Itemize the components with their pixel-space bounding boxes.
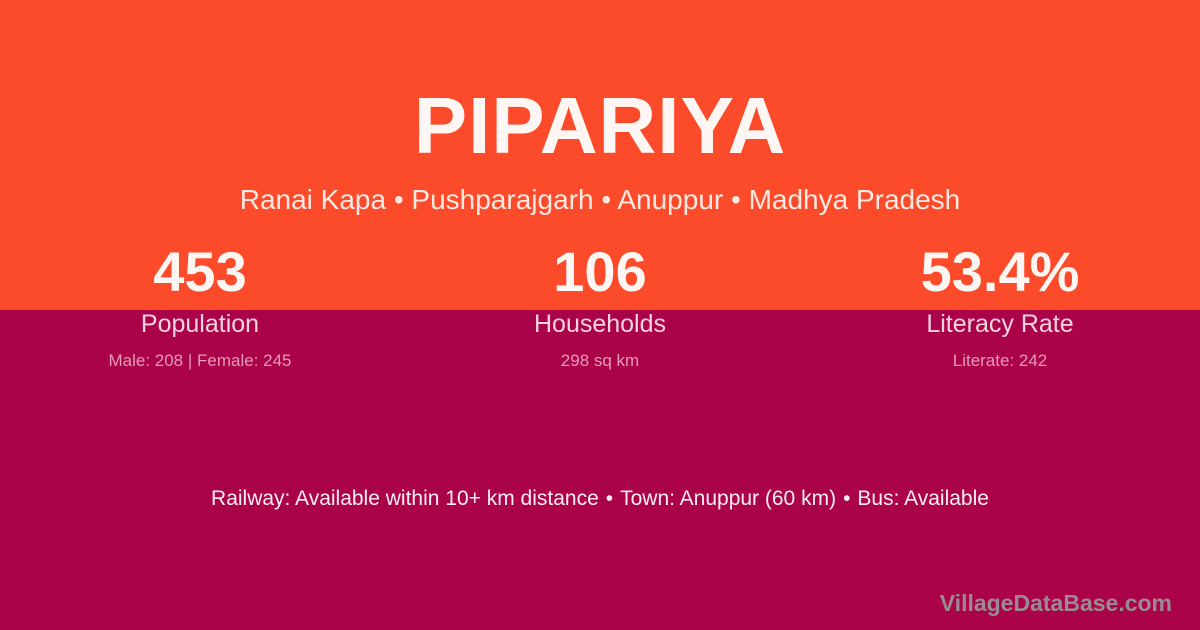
village-info-card: PIPARIYA Ranai Kapa • Pushparajgarh • An…: [0, 0, 1200, 630]
stat-literacy-detail: Literate: 242: [800, 350, 1200, 372]
stat-households-label: Households: [400, 308, 800, 340]
stat-households-value: 106: [400, 240, 800, 304]
stats-row: 453 Population Male: 208 | Female: 245 1…: [0, 240, 1200, 372]
stat-literacy-label: Literacy Rate: [800, 308, 1200, 340]
amenity-railway: Railway: Available within 10+ km distanc…: [211, 487, 599, 510]
stat-population-value: 453: [0, 240, 400, 304]
amenity-separator-first: •: [599, 487, 620, 510]
breadcrumb: Ranai Kapa • Pushparajgarh • Anuppur • M…: [0, 182, 1200, 218]
stat-population: 453 Population Male: 208 | Female: 245: [0, 240, 400, 372]
stat-households-detail: 298 sq km: [400, 350, 800, 372]
amenity-town: Town: Anuppur (60 km): [620, 487, 836, 510]
stat-households: 106 Households 298 sq km: [400, 240, 800, 372]
stat-literacy: 53.4% Literacy Rate Literate: 242: [800, 240, 1200, 372]
site-watermark: VillageDataBase.com: [940, 588, 1172, 618]
stat-population-detail: Male: 208 | Female: 245: [0, 350, 400, 372]
amenities-line: Railway: Available within 10+ km distanc…: [0, 484, 1200, 514]
amenity-bus: Bus: Available: [857, 487, 989, 510]
stat-population-label: Population: [0, 308, 400, 340]
stat-literacy-value: 53.4%: [800, 240, 1200, 304]
page-title: PIPARIYA: [0, 78, 1200, 174]
amenity-separator-second: •: [836, 487, 857, 510]
